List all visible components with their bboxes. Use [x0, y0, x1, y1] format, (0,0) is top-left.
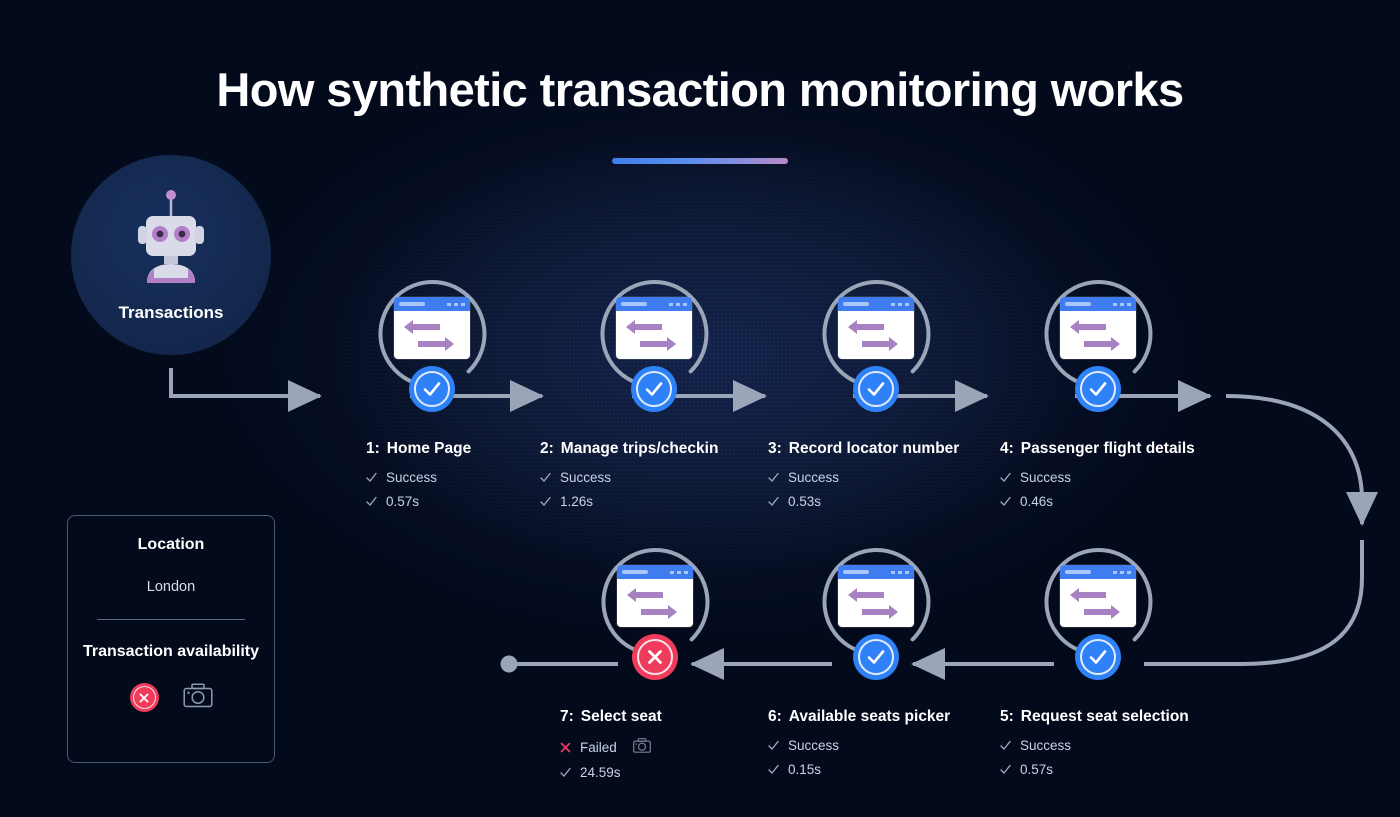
step-status: Success [560, 470, 611, 485]
check-icon [1000, 764, 1011, 775]
availability-icons [130, 683, 213, 713]
robot-icon [133, 188, 209, 289]
step-name: Record locator number [789, 440, 960, 457]
check-icon [768, 740, 779, 751]
step-node-2[interactable] [590, 270, 718, 398]
step-duration-row: 0.15s [768, 762, 1018, 777]
step-number: 1: [366, 440, 380, 457]
step-name: Passenger flight details [1021, 440, 1195, 457]
step-title: 5:Request seat selection [1000, 708, 1250, 726]
availability-label: Transaction availability [83, 642, 259, 663]
browser-window-icon [394, 297, 470, 359]
location-label: Location [138, 536, 205, 554]
step-name: Home Page [387, 440, 471, 457]
step-number: 4: [1000, 440, 1014, 457]
camera-icon[interactable] [633, 738, 651, 756]
step-duration-row: 0.57s [1000, 762, 1250, 777]
browser-window-icon [838, 565, 914, 627]
step-node-7[interactable] [591, 538, 719, 666]
step-node-3[interactable] [812, 270, 940, 398]
step-status-row: Success [768, 738, 1018, 753]
step-number: 3: [768, 440, 782, 457]
check-icon [540, 496, 551, 507]
check-icon [768, 496, 779, 507]
step-title: 3:Record locator number [768, 440, 1018, 458]
step-status: Success [1020, 470, 1071, 485]
step-name: Manage trips/checkin [561, 440, 719, 457]
step-name: Available seats picker [789, 708, 950, 725]
step-duration: 0.53s [788, 494, 821, 509]
step-number: 7: [560, 708, 574, 725]
step-duration: 1.26s [560, 494, 593, 509]
step-status-row: Success [1000, 738, 1250, 753]
check-icon [1000, 496, 1011, 507]
step-status: Failed [580, 740, 617, 755]
status-badge-success [409, 366, 455, 412]
source-node-transactions[interactable]: Transactions [71, 155, 271, 355]
step-number: 6: [768, 708, 782, 725]
step-name: Select seat [581, 708, 662, 725]
step-duration-row: 1.26s [540, 494, 790, 509]
check-icon [560, 767, 571, 778]
browser-window-icon [1060, 297, 1136, 359]
failed-x-icon[interactable] [130, 683, 159, 712]
source-node-label: Transactions [119, 303, 224, 323]
step-duration-row: 0.46s [1000, 494, 1250, 509]
check-icon [366, 496, 377, 507]
step-node-6[interactable] [812, 538, 940, 666]
status-badge-success [1075, 634, 1121, 680]
status-badge-failed [632, 634, 678, 680]
step-duration: 0.15s [788, 762, 821, 777]
step-duration: 0.46s [1020, 494, 1053, 509]
step-caption-6: 6:Available seats picker Success 0.15s [768, 708, 1018, 786]
step-title: 4:Passenger flight details [1000, 440, 1250, 458]
step-status: Success [788, 470, 839, 485]
status-badge-success [1075, 366, 1121, 412]
step-caption-2: 2:Manage trips/checkin Success 1.26s [540, 440, 790, 518]
step-status-row: Success [540, 470, 790, 485]
step-node-1[interactable] [368, 270, 496, 398]
step-duration: 0.57s [386, 494, 419, 509]
step-status-row: Success [1000, 470, 1250, 485]
browser-window-icon [616, 297, 692, 359]
browser-window-icon [617, 565, 693, 627]
step-caption-5: 5:Request seat selection Success 0.57s [1000, 708, 1250, 786]
check-icon [540, 472, 551, 483]
status-badge-success [853, 366, 899, 412]
step-status-row: Success [768, 470, 1018, 485]
flow-end-dot [501, 656, 518, 673]
check-icon [768, 472, 779, 483]
step-number: 2: [540, 440, 554, 457]
step-caption-3: 3:Record locator number Success 0.53s [768, 440, 1018, 518]
browser-window-icon [1060, 565, 1136, 627]
check-icon [366, 472, 377, 483]
step-status: Success [1020, 738, 1071, 753]
step-status: Success [788, 738, 839, 753]
step-duration-row: 0.53s [768, 494, 1018, 509]
step-name: Request seat selection [1021, 708, 1189, 725]
step-title: 2:Manage trips/checkin [540, 440, 790, 458]
status-badge-success [853, 634, 899, 680]
x-icon [560, 742, 571, 753]
step-node-5[interactable] [1034, 538, 1162, 666]
step-title: 6:Available seats picker [768, 708, 1018, 726]
step-duration: 0.57s [1020, 762, 1053, 777]
check-icon [1000, 472, 1011, 483]
step-caption-4: 4:Passenger flight details Success 0.46s [1000, 440, 1250, 518]
location-value: London [147, 579, 195, 595]
check-icon [768, 764, 779, 775]
card-divider [97, 619, 245, 620]
step-status: Success [386, 470, 437, 485]
step-node-4[interactable] [1034, 270, 1162, 398]
step-number: 5: [1000, 708, 1014, 725]
camera-icon[interactable] [183, 683, 213, 713]
check-icon [1000, 740, 1011, 751]
status-badge-success [631, 366, 677, 412]
step-duration: 24.59s [580, 765, 621, 780]
location-availability-card: Location London Transaction availability [67, 515, 275, 763]
browser-window-icon [838, 297, 914, 359]
